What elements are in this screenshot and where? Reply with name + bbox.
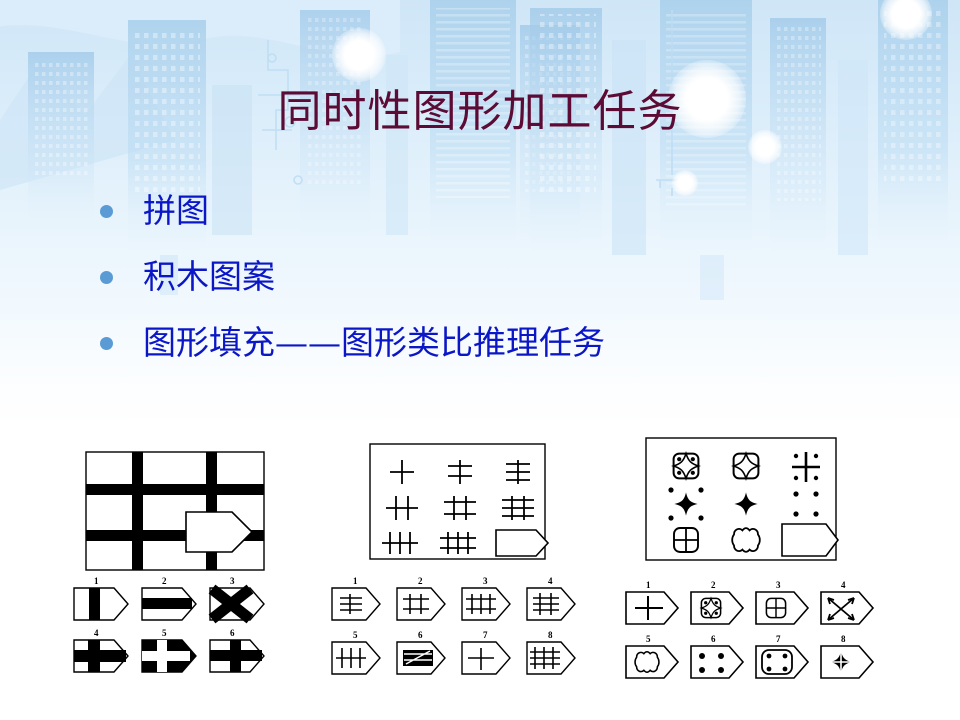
figure-group-hash: 1 2 3 [330,438,600,678]
option-number: 1 [353,576,358,586]
list-item: 图形填充——图形类比推理任务 [100,310,880,376]
ornament-option[interactable]: 5 [626,634,678,678]
puzzle-stimulus [86,452,264,570]
slide-title: 同时性图形加工任务 [0,86,960,138]
slide-canvas: 同时性图形加工任务 拼图 积木图案 图形填充——图形类比推理任务 [0,0,960,720]
hash-option[interactable]: 2 [397,576,445,620]
hash-option[interactable]: 3 [462,576,510,620]
puzzle-option[interactable]: 5 [142,628,196,672]
option-number: 8 [548,630,553,640]
list-item: 拼图 [100,178,880,244]
bullet-dot-icon [100,337,113,350]
figure-panels: 1 2 3 4 [0,430,960,720]
puzzle-option[interactable]: 3 [210,576,264,620]
bullet-label: 积木图案 [143,258,275,296]
option-number: 3 [483,576,488,586]
ornament-option[interactable]: 4 [821,580,873,624]
option-number: 8 [841,634,846,644]
hash-option[interactable]: 5 [332,630,380,674]
bullet-label: 拼图 [143,192,209,230]
ornament-option[interactable]: 8 [821,634,873,678]
option-number: 6 [418,630,423,640]
puzzle-option[interactable]: 6 [210,628,264,672]
bullet-list: 拼图 积木图案 图形填充——图形类比推理任务 [100,178,880,376]
bullet-label: 图形填充——图形类比推理任务 [143,324,605,362]
bullet-dot-icon [100,271,113,284]
option-number: 6 [230,628,235,638]
option-number: 1 [94,576,99,586]
bullet-dot-icon [100,205,113,218]
puzzle-option[interactable]: 1 [74,576,128,620]
option-number: 7 [483,630,488,640]
option-number: 2 [418,576,423,586]
ornament-option[interactable]: 3 [756,580,808,624]
option-number: 5 [646,634,651,644]
hash-option[interactable]: 1 [332,576,380,620]
option-number: 3 [230,576,235,586]
hash-option[interactable]: 4 [527,576,575,620]
hash-option[interactable]: 6 [397,630,445,674]
glow-orb-medium [332,28,386,82]
option-number: 5 [162,628,167,638]
figure-group-puzzle: 1 2 3 4 [72,438,332,678]
option-number: 2 [162,576,167,586]
ornament-option[interactable]: 6 [691,634,743,678]
option-number: 3 [776,580,781,590]
list-item: 积木图案 [100,244,880,310]
puzzle-option[interactable]: 2 [142,576,196,620]
hash-option[interactable]: 7 [462,630,510,674]
figure-group-ornament: 1 2 3 4 [620,430,900,678]
option-number: 4 [548,576,553,586]
puzzle-option[interactable]: 4 [74,628,128,672]
option-number: 7 [776,634,781,644]
option-number: 4 [841,580,846,590]
ornament-option[interactable]: 2 [691,580,743,624]
option-number: 5 [353,630,358,640]
option-number: 4 [94,628,99,638]
ornament-stimulus [646,438,838,560]
ornament-option[interactable]: 1 [626,580,678,624]
option-number: 6 [711,634,716,644]
option-number: 2 [711,580,716,590]
hash-stimulus [370,444,548,559]
option-number: 1 [646,580,651,590]
ornament-option[interactable]: 7 [756,634,808,678]
hash-option[interactable]: 8 [527,630,575,674]
